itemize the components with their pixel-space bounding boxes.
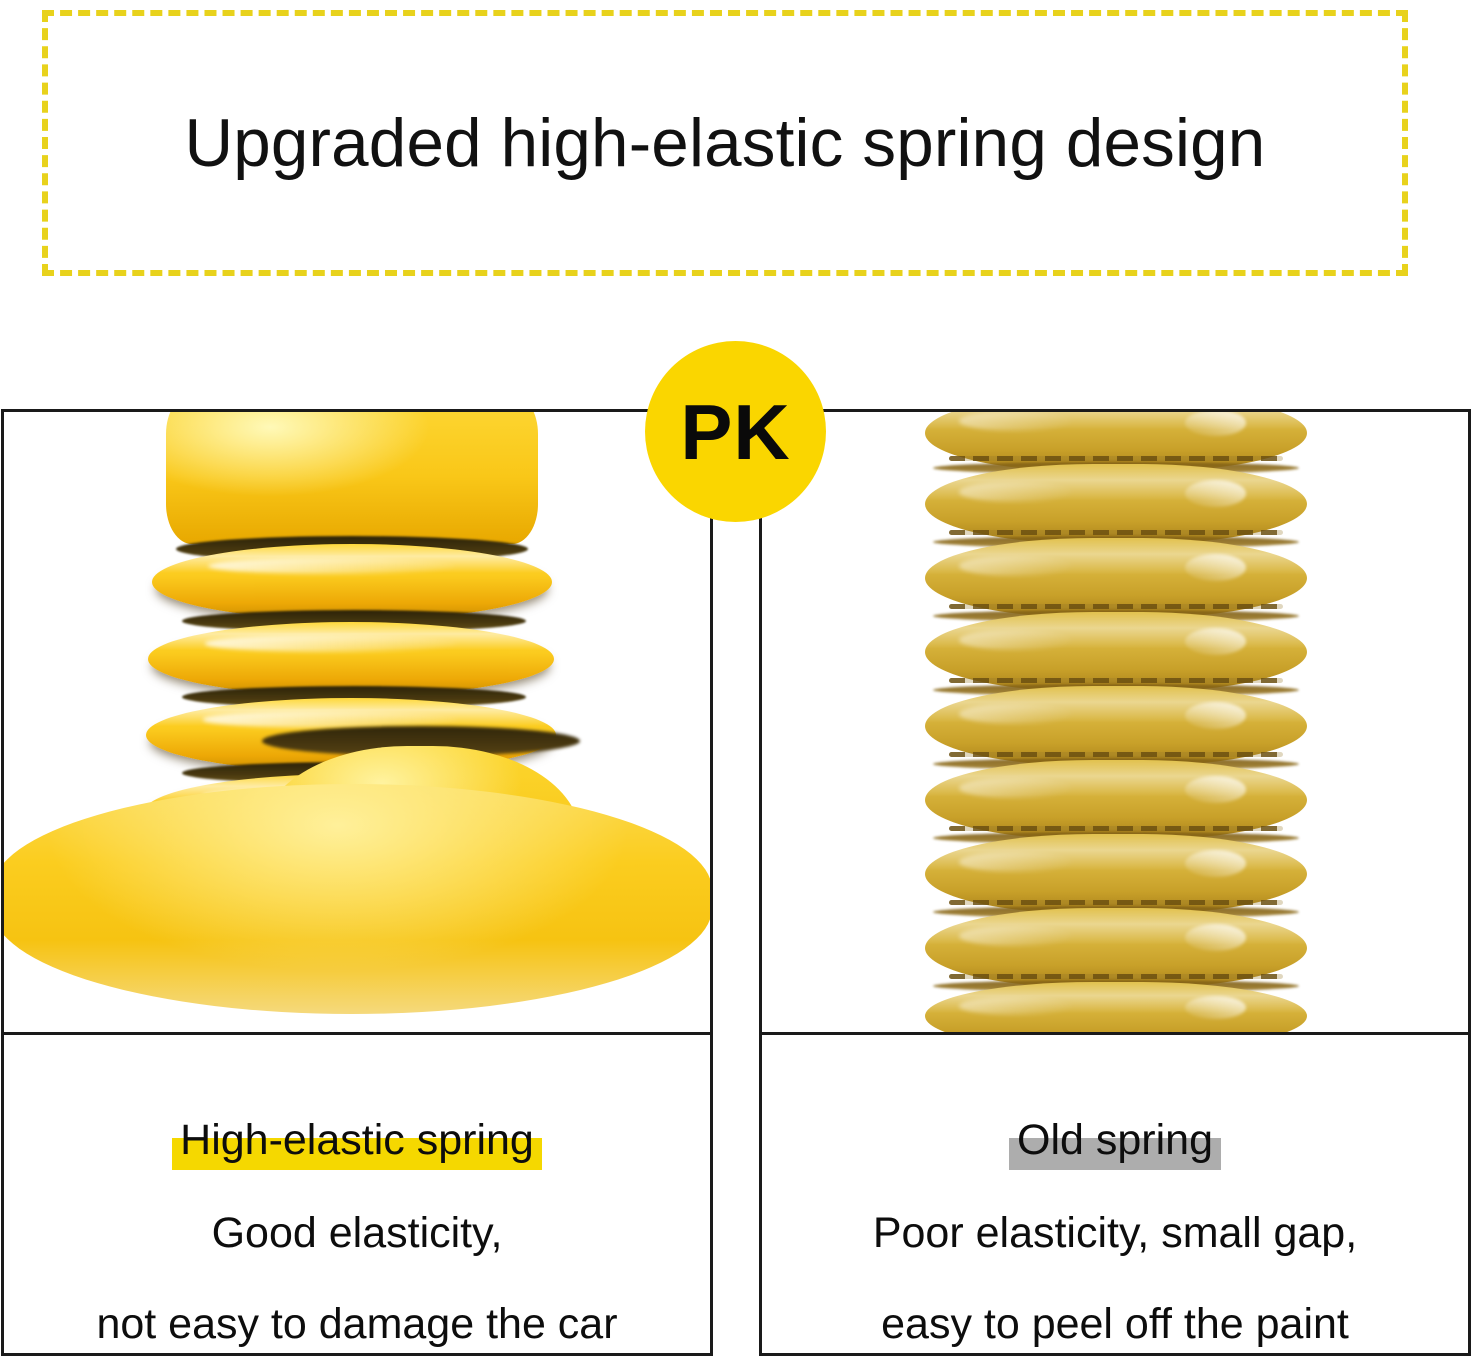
spring-coil — [148, 622, 554, 696]
spring-seam — [949, 826, 1283, 831]
old-spring-photo — [762, 412, 1468, 1035]
caption-left-line1: Good elasticity, — [4, 1212, 710, 1255]
spring-illustration-old — [925, 412, 1307, 1035]
page-title: Upgraded high-elastic spring design — [185, 109, 1266, 177]
spring-seam — [949, 974, 1283, 979]
pk-badge: PK — [645, 341, 826, 522]
caption-right-line1: Poor elasticity, small gap, — [762, 1212, 1468, 1255]
pk-badge-label: PK — [680, 393, 790, 471]
spring-illustration-new — [142, 412, 560, 954]
caption-heading-right: Old spring — [1009, 1119, 1221, 1162]
spring-seam — [949, 678, 1283, 683]
caption-right: Old spring Poor elasticity, small gap, e… — [762, 1035, 1468, 1356]
caption-heading-right-text: Old spring — [1017, 1116, 1213, 1164]
high-elastic-spring-photo — [4, 412, 710, 1035]
comparison-section: High-elastic spring Good elasticity, not… — [0, 409, 1472, 1365]
spring-seam — [949, 752, 1283, 757]
comparison-panel-left: High-elastic spring Good elasticity, not… — [1, 409, 713, 1356]
title-banner: Upgraded high-elastic spring design — [42, 10, 1408, 276]
caption-heading-left: High-elastic spring — [172, 1119, 542, 1162]
spring-seam — [949, 456, 1283, 461]
spring-coil — [152, 544, 552, 620]
spring-mount-base — [4, 784, 710, 1014]
spring-top-cap — [166, 412, 538, 544]
caption-left: High-elastic spring Good elasticity, not… — [4, 1035, 710, 1356]
spring-coil — [925, 982, 1307, 1035]
spring-seam — [949, 900, 1283, 905]
comparison-panel-right: Old spring Poor elasticity, small gap, e… — [759, 409, 1471, 1356]
caption-heading-left-text: High-elastic spring — [180, 1116, 534, 1164]
caption-left-line2: not easy to damage the car — [4, 1303, 710, 1346]
spring-seam — [949, 604, 1283, 609]
caption-right-line2: easy to peel off the paint — [762, 1303, 1468, 1346]
spring-seam — [949, 530, 1283, 535]
